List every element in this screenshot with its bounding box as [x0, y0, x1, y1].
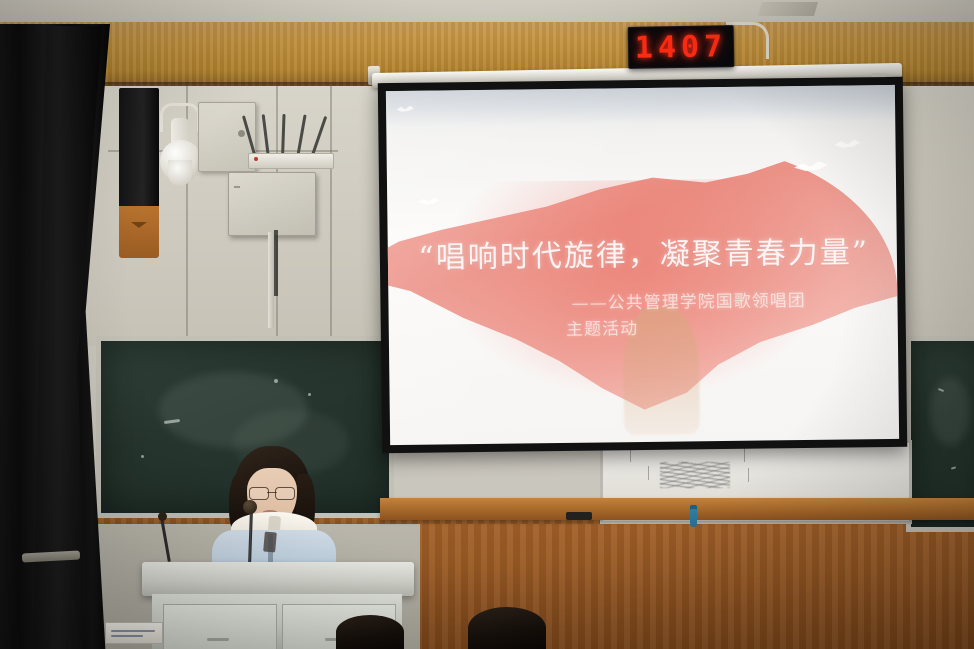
whiteboard-erased-marks — [660, 462, 730, 488]
zipper-icon — [263, 532, 277, 553]
microphone-icon[interactable] — [243, 500, 257, 514]
microphone-icon-secondary[interactable] — [158, 512, 167, 521]
wall-notice-plate — [105, 622, 163, 644]
screen-light-band — [386, 85, 895, 127]
whiteboard-mark — [648, 466, 649, 480]
water-bottle[interactable] — [690, 509, 697, 527]
clock-time-display: 1407 — [635, 29, 728, 66]
slide-subtitle-line-1: ——公共管理学院国歌领唱团 — [572, 291, 806, 314]
whiteboard-mark — [748, 468, 749, 482]
wifi-router — [248, 153, 334, 169]
metal-control-cabinet[interactable] — [228, 172, 316, 236]
audience-head — [468, 607, 546, 649]
camera-lens-icon — [168, 160, 192, 186]
digital-wall-clock: 1407 — [628, 25, 735, 69]
speaker-wood-base — [119, 206, 159, 258]
dove-icon — [834, 138, 860, 149]
lecture-hall-scene: “唱响时代旋律，凝聚青春力量” ——公共管理学院国歌领唱团 主题活动 1407 — [0, 0, 974, 649]
ceiling-vent — [758, 2, 818, 16]
cabinet-lock-icon[interactable] — [238, 130, 245, 137]
router-antenna-array — [252, 110, 318, 158]
router-led-icon — [254, 157, 258, 161]
slide-subtitle: ——公共管理学院国歌领唱团 主题活动 — [572, 287, 898, 344]
lectern-panel[interactable] — [163, 604, 277, 649]
whiteboard-mark — [744, 448, 745, 462]
wooden-ledge — [380, 498, 974, 520]
projection-screen-surface: “唱响时代旋律，凝聚青春力量” ——公共管理学院国歌领唱团 主题活动 — [386, 85, 899, 445]
glasses-icon — [249, 487, 295, 498]
lectern-handle-icon[interactable] — [207, 638, 229, 641]
audience-head — [336, 615, 404, 649]
slide-title: “唱响时代旋律，凝聚青春力量” — [418, 227, 877, 277]
cable-run — [274, 230, 278, 296]
cabinet-vent-icon — [234, 186, 240, 188]
lectern-top — [142, 562, 414, 596]
board-eraser[interactable] — [566, 512, 592, 520]
presenter — [198, 446, 348, 576]
dove-icon — [418, 197, 440, 206]
slide-subtitle-line-2: 主题活动 — [566, 313, 898, 343]
wall-seam — [330, 86, 332, 346]
